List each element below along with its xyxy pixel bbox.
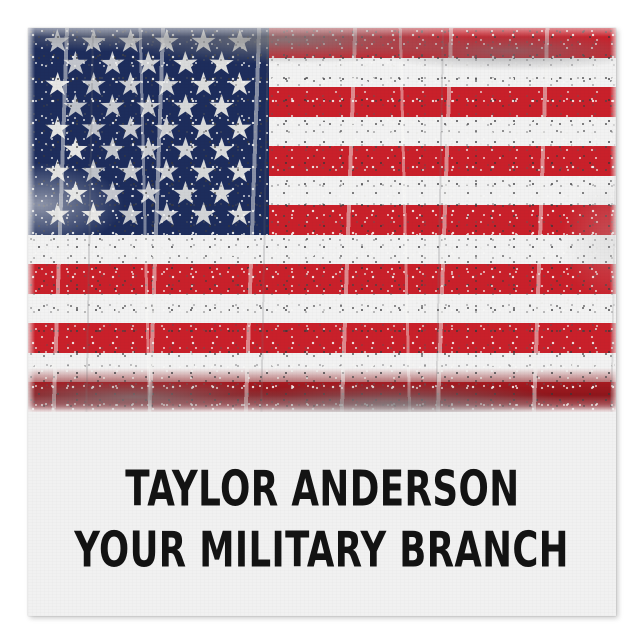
flag-canton-union [28,28,269,235]
poster-card[interactable]: Taylor Anderson Your Military Branch [28,28,616,616]
caption-block: Taylor Anderson Your Military Branch [28,440,616,616]
flag-star [173,181,198,206]
flag-star [227,159,252,184]
flag-star [63,94,88,119]
flag-star [118,29,143,54]
flag-star [63,181,88,206]
flag-star [191,29,216,54]
flag-star [154,159,180,185]
flag-star [118,72,143,97]
flag-star [154,115,179,140]
flag-star [191,202,216,227]
flag-star [209,181,234,206]
distressed-american-flag-artwork [28,28,616,412]
worn-bottom-band [28,368,616,412]
flag-star [227,72,252,97]
flag-star [227,29,252,54]
flag-star [209,50,235,76]
flag-star [99,94,125,120]
flag-star [81,159,106,184]
flag-star [136,50,161,75]
flag-star [45,116,70,141]
flag-star [99,181,124,206]
caption-branch-line[interactable]: Your Military Branch [75,526,570,575]
flag-star [99,137,124,162]
flag-star [227,202,252,227]
flag-star [154,72,179,97]
flag-star [45,72,70,97]
flag-star [154,202,179,227]
poster-stage: Taylor Anderson Your Military Branch [0,0,644,644]
flag-star [136,181,161,206]
flag-star [136,137,161,162]
flag-star [172,50,198,76]
flag-star [172,94,197,119]
flag-star [154,29,179,54]
flag-star [99,50,124,75]
flag-star [136,94,162,120]
flag-star [81,202,107,228]
flag-stripe-9-red [28,264,616,294]
flag-star [118,159,143,184]
flag-star [173,137,198,162]
flag-star [118,116,143,141]
flag-star [63,51,88,76]
flag-star [191,72,216,97]
flag-star [44,29,70,55]
flag-star [191,115,216,140]
flag-star [45,202,70,227]
flag-star [227,115,253,141]
flag-star [209,94,234,119]
flag-star [209,137,234,162]
flag-stripe-10-white [28,294,616,324]
flag-stripe-8-white [28,235,616,265]
flag-star [81,72,106,97]
flag-star [81,29,107,55]
flag-star [45,159,70,184]
flag-stripe-11-red [28,323,616,353]
flag-star [118,202,144,228]
flag-star [63,137,89,163]
flag-star [81,116,106,141]
caption-name-line[interactable]: Taylor Anderson [125,465,519,514]
flag-star [191,159,217,185]
